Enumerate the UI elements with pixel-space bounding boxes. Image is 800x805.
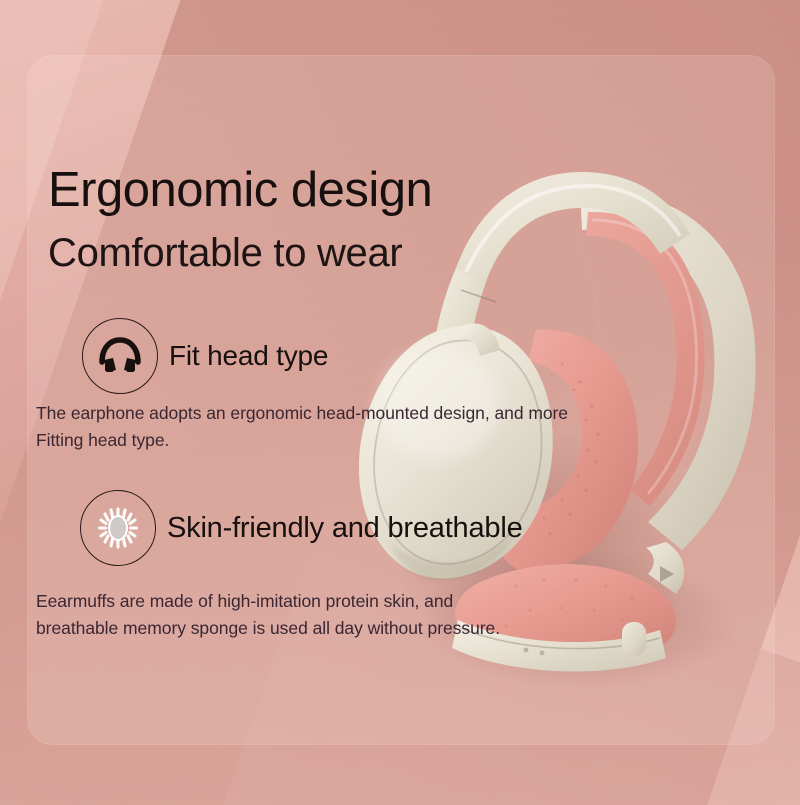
product-feature-banner: Ergonomic design Comfortable to wear Fit…	[0, 0, 800, 805]
page-subtitle: Comfortable to wear	[48, 232, 402, 274]
feature-label: Skin-friendly and breathable	[167, 512, 523, 545]
headphones-icon	[82, 318, 158, 394]
ear-cushion-icon	[80, 490, 156, 566]
page-title: Ergonomic design	[48, 166, 432, 216]
feature-label: Fit head type	[169, 340, 328, 372]
feature-item-skin-friendly: Skin-friendly and breathable	[80, 490, 523, 566]
feature-item-fit-head-type: Fit head type	[82, 318, 328, 394]
feature-description: The earphone adopts an ergonomic head-mo…	[36, 400, 706, 453]
feature-description: Eearmuffs are made of high-imitation pro…	[36, 588, 686, 641]
